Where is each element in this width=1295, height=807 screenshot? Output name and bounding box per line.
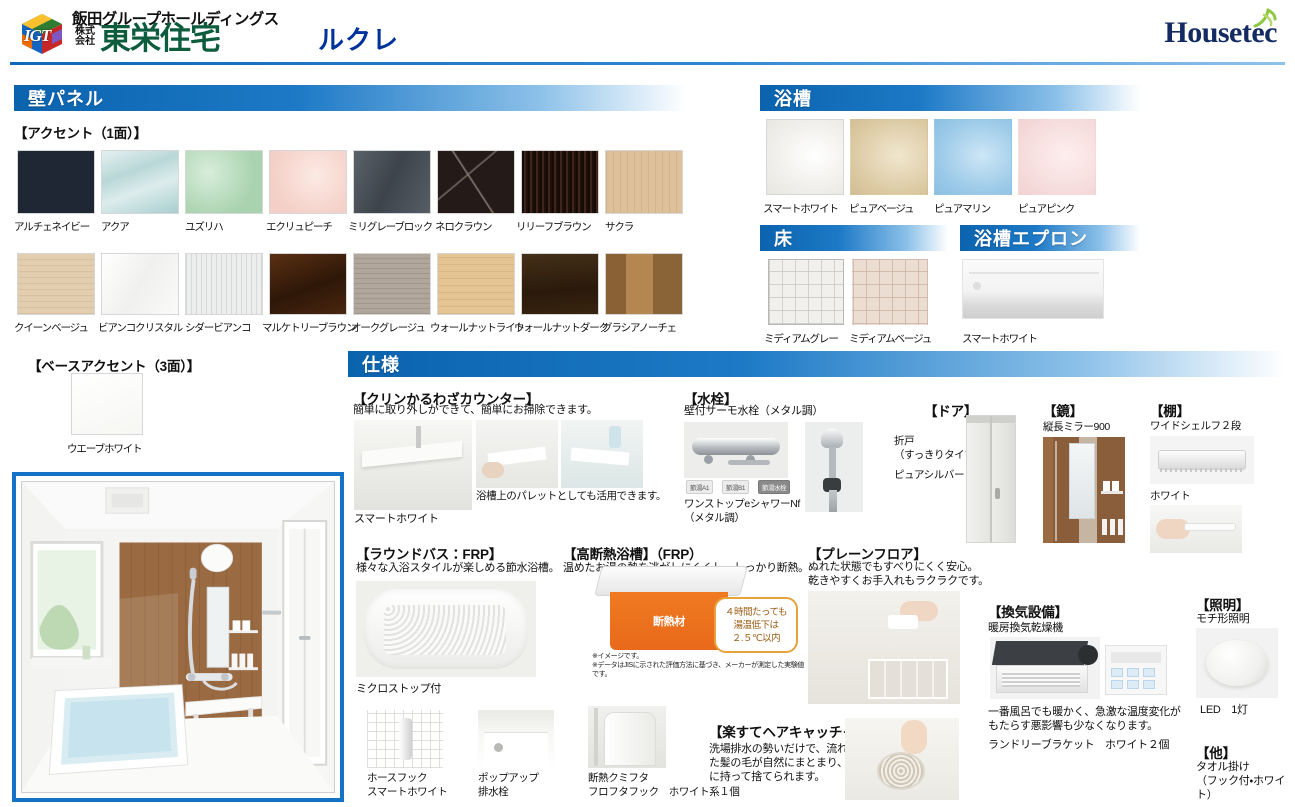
label-mirror: 縦長ミラー900 <box>1043 420 1110 434</box>
desc-round-bath: 様々な入浴スタイルが楽しめる節水浴槽。 <box>356 561 559 575</box>
section-title-bathtub: 浴槽 <box>760 85 812 111</box>
photo-insulated-tub-body: 断熱材 <box>610 592 728 650</box>
desc-plain-floor: ぬれた状態でもすべりにくく安心。 乾きやすくお手入れもラクラクです。 <box>808 560 989 588</box>
swatch-label-accent-0: アルチェネイビー <box>14 219 100 234</box>
swatch-accent-sakura[interactable] <box>605 150 683 214</box>
note-insulated-tub: ※イメージです。 ※データはJISに示された評価方法に基づき、メーカーが測定した… <box>592 652 807 679</box>
photo-mirror <box>1043 437 1125 543</box>
swatch-accent-cedar-bianco[interactable] <box>185 253 263 315</box>
iida-group-logo-icon: IGT <box>18 12 66 56</box>
spec-sheet-page: IGT 飯田グループホールディングス 株式 会社 東栄住宅 ルクレ Houset… <box>0 0 1295 807</box>
section-title-apron: 浴槽エプロン <box>960 225 1088 251</box>
main-bathroom-render-frame <box>12 472 344 802</box>
swatch-bathtub-pure-pink[interactable] <box>1018 119 1096 195</box>
section-banner-wall-panel: 壁パネル <box>14 85 686 111</box>
section-banner-bathtub: 浴槽 <box>760 85 1140 111</box>
swatch-accent-marquetry-brown[interactable] <box>269 253 347 315</box>
swatch-base-accent-wave-white[interactable] <box>71 373 143 435</box>
swatch-label-bathtub-3: ピュアピンク <box>1018 201 1106 216</box>
label-hose-hook: ホースフック スマートホワイト <box>367 771 448 799</box>
photo-shelf-hand <box>1150 505 1242 553</box>
swatch-label-floor-1: ミディアムベージュ <box>849 331 945 346</box>
page-header: IGT 飯田グループホールディングス 株式 会社 東栄住宅 ルクレ Houset… <box>0 0 1295 66</box>
swatch-label-accent2-3: マルケトリーブラウン <box>262 320 360 335</box>
swatch-label-bathtub-1: ピュアベージュ <box>849 201 937 216</box>
label-door-color: ピュアシルバー <box>894 468 964 482</box>
swatch-accent-oak-greige[interactable] <box>353 253 431 315</box>
swatch-label-accent2-5: ウォールナットライト <box>430 320 526 335</box>
section-banner-apron: 浴槽エプロン <box>960 225 1140 251</box>
photo-counter-main <box>354 420 472 510</box>
photo-popup-drain <box>478 710 554 768</box>
label-shelf: ワイドシェルフ２段 <box>1150 419 1241 433</box>
swatch-bathtub-pure-marine[interactable] <box>934 119 1012 195</box>
swatch-label-accent-5: ネロクラウン <box>435 219 521 234</box>
section-banner-floor: 床 <box>760 225 948 251</box>
photo-bath-apron <box>962 259 1104 319</box>
label-shower: ワンストップeシャワーNf （メタル調） <box>684 497 800 525</box>
header-divider <box>10 62 1285 65</box>
label-ventilation: 暖房換気乾燥機 <box>988 621 1063 635</box>
product-title: ルクレ <box>318 20 399 57</box>
swatch-accent-ecru-peach[interactable] <box>269 150 347 214</box>
label-laundry-bracket: ランドリーブラケット ホワイト２個 <box>988 738 1169 752</box>
label-lighting: モチ形照明 <box>1196 612 1250 626</box>
heading-mirror: 【鏡】 <box>1043 400 1083 420</box>
swatch-label-floor-0: ミディアムグレー <box>764 331 856 346</box>
photo-counter-removal <box>476 420 558 488</box>
badge-eco-a1: 節湯A1 <box>686 480 713 494</box>
swatch-accent-relief-brown[interactable] <box>521 150 599 214</box>
section-banner-spec: 仕様 <box>348 351 1285 377</box>
swatch-accent-walnut-dark[interactable] <box>521 253 599 315</box>
swatch-accent-gracia-noche[interactable] <box>605 253 683 315</box>
swatch-label-accent2-1: ビアンコクリスタル <box>98 320 192 335</box>
photo-round-bath <box>356 581 536 677</box>
section-title-floor: 床 <box>760 225 793 251</box>
swatch-label-accent-6: リリーフブラウン <box>516 219 608 234</box>
swatch-label-accent-2: ユズリハ <box>185 219 271 234</box>
heading-lighting: 【照明】 <box>1196 594 1249 614</box>
photo-door <box>966 415 1016 543</box>
swatch-accent-queen-beige[interactable] <box>17 253 95 315</box>
desc-faucet: 壁付サーモ水栓（メタル調） <box>684 404 823 418</box>
swatch-bathtub-smart-white[interactable] <box>766 119 844 195</box>
photo-wide-shelf <box>1150 436 1254 484</box>
callout-heat-retention: ４時間たっても 湯温低下は ２.５℃以内 <box>714 597 798 653</box>
heading-ventilation: 【換気設備】 <box>988 601 1068 621</box>
swatch-label-accent-3: エクリュピーチ <box>266 219 356 234</box>
photo-ventilation-unit <box>990 637 1100 699</box>
swatch-label-accent2-0: クイーンベージュ <box>14 320 104 335</box>
swatch-accent-bianco-crystal[interactable] <box>101 253 179 315</box>
heading-other: 【他】 <box>1196 742 1236 762</box>
label-counter-color: スマートホワイト <box>354 512 438 526</box>
photo-insulated-lid <box>588 706 666 768</box>
desc-counter: 簡単に取り外しができて、簡単にお掃除できます。 <box>353 403 597 417</box>
label-round-bath-caption: ミクロストップ付 <box>356 682 441 696</box>
swatch-accent-aqua[interactable] <box>101 150 179 214</box>
swatch-accent-walnut-light[interactable] <box>437 253 515 315</box>
swatch-label-accent-7: サクラ <box>605 219 691 234</box>
swatch-label-accent-1: アクア <box>101 219 187 234</box>
logo-mark-text: IGT <box>24 26 50 46</box>
label-popup-drain: ポップアップ 排水栓 <box>478 771 539 799</box>
label-other-towel-rail: タオル掛け （フック付・ホワイト） <box>1196 760 1295 802</box>
company-prefix: 株式 会社 <box>72 27 98 47</box>
heading-insulated-tub: 【高断熱浴槽】（FRP） <box>563 543 702 563</box>
heading-base-accent-3face: 【ベースアクセント（3面）】 <box>28 355 200 375</box>
swatch-accent-milli-grey-block[interactable] <box>353 150 431 214</box>
company-name: 東栄住宅 <box>100 22 220 55</box>
photo-counter-pallet <box>561 420 643 488</box>
swatch-label-base-accent-0: ウエーブホワイト <box>67 441 159 456</box>
heading-accent-1face: 【アクセント（1面）】 <box>14 122 147 142</box>
photo-ceiling-light <box>1196 628 1278 698</box>
swatch-floor-medium-grey[interactable] <box>768 259 844 325</box>
swatch-label-accent-4: ミリグレーブロック <box>348 219 442 234</box>
swatch-accent-navy[interactable] <box>17 150 95 214</box>
swatch-label-bathtub-0: スマートホワイト <box>763 201 851 216</box>
photo-thermo-faucet <box>684 422 788 478</box>
brand-logo: Housetec <box>1164 16 1277 50</box>
swatch-label-bathtub-2: ピュアマリン <box>934 201 1022 216</box>
swatch-accent-yuzuriha[interactable] <box>185 150 263 214</box>
swatch-bathtub-pure-beige[interactable] <box>850 119 928 195</box>
swatch-label-accent2-6: ウォールナットダーク <box>514 320 610 335</box>
section-title-spec: 仕様 <box>348 351 400 377</box>
badge-eco-faucet: 節湯水栓 <box>758 480 790 494</box>
heading-shelf: 【棚】 <box>1150 400 1190 420</box>
photo-hose-hook <box>367 710 443 768</box>
swatch-label-accent2-7: グラシアノーチェ <box>602 320 692 335</box>
caption-counter-pallet: 浴槽上のパレットとしても活用できます。 <box>476 489 666 503</box>
photo-plain-floor <box>808 591 960 704</box>
swatch-accent-nero-crown[interactable] <box>437 150 515 214</box>
section-title-wall-panel: 壁パネル <box>14 85 104 111</box>
label-shelf-color: ホワイト <box>1150 489 1190 503</box>
company-prefix-line2: 会社 <box>72 37 98 47</box>
swatch-label-apron-0: スマートホワイト <box>962 331 1058 346</box>
photo-hair-catcher <box>845 718 959 800</box>
main-bathroom-render <box>21 481 335 793</box>
photo-ventilation-remote <box>1105 645 1167 695</box>
heading-round-bath: 【ラウンドバス：FRP】 <box>356 543 502 563</box>
desc-hair-catcher: 洗場排水の勢いだけで、流れ た髪の毛が自然にまとまり、楽 に持って捨てられます。 <box>709 742 858 784</box>
spec-lighting-led: LED 1灯 <box>1200 703 1248 717</box>
callout-heat-retention-text: ４時間たっても 湯温低下は ２.５℃以内 <box>725 606 787 645</box>
badge-eco-b1: 節湯B1 <box>722 480 749 494</box>
desc-ventilation: 一番風呂でも暖かく、急激な温度変化が もたらす悪影響も少なくなります。 <box>988 705 1181 733</box>
label-insulation-material: 断熱材 <box>653 613 685 629</box>
photo-shower-head <box>805 422 863 512</box>
swatch-floor-medium-beige[interactable] <box>852 259 928 325</box>
